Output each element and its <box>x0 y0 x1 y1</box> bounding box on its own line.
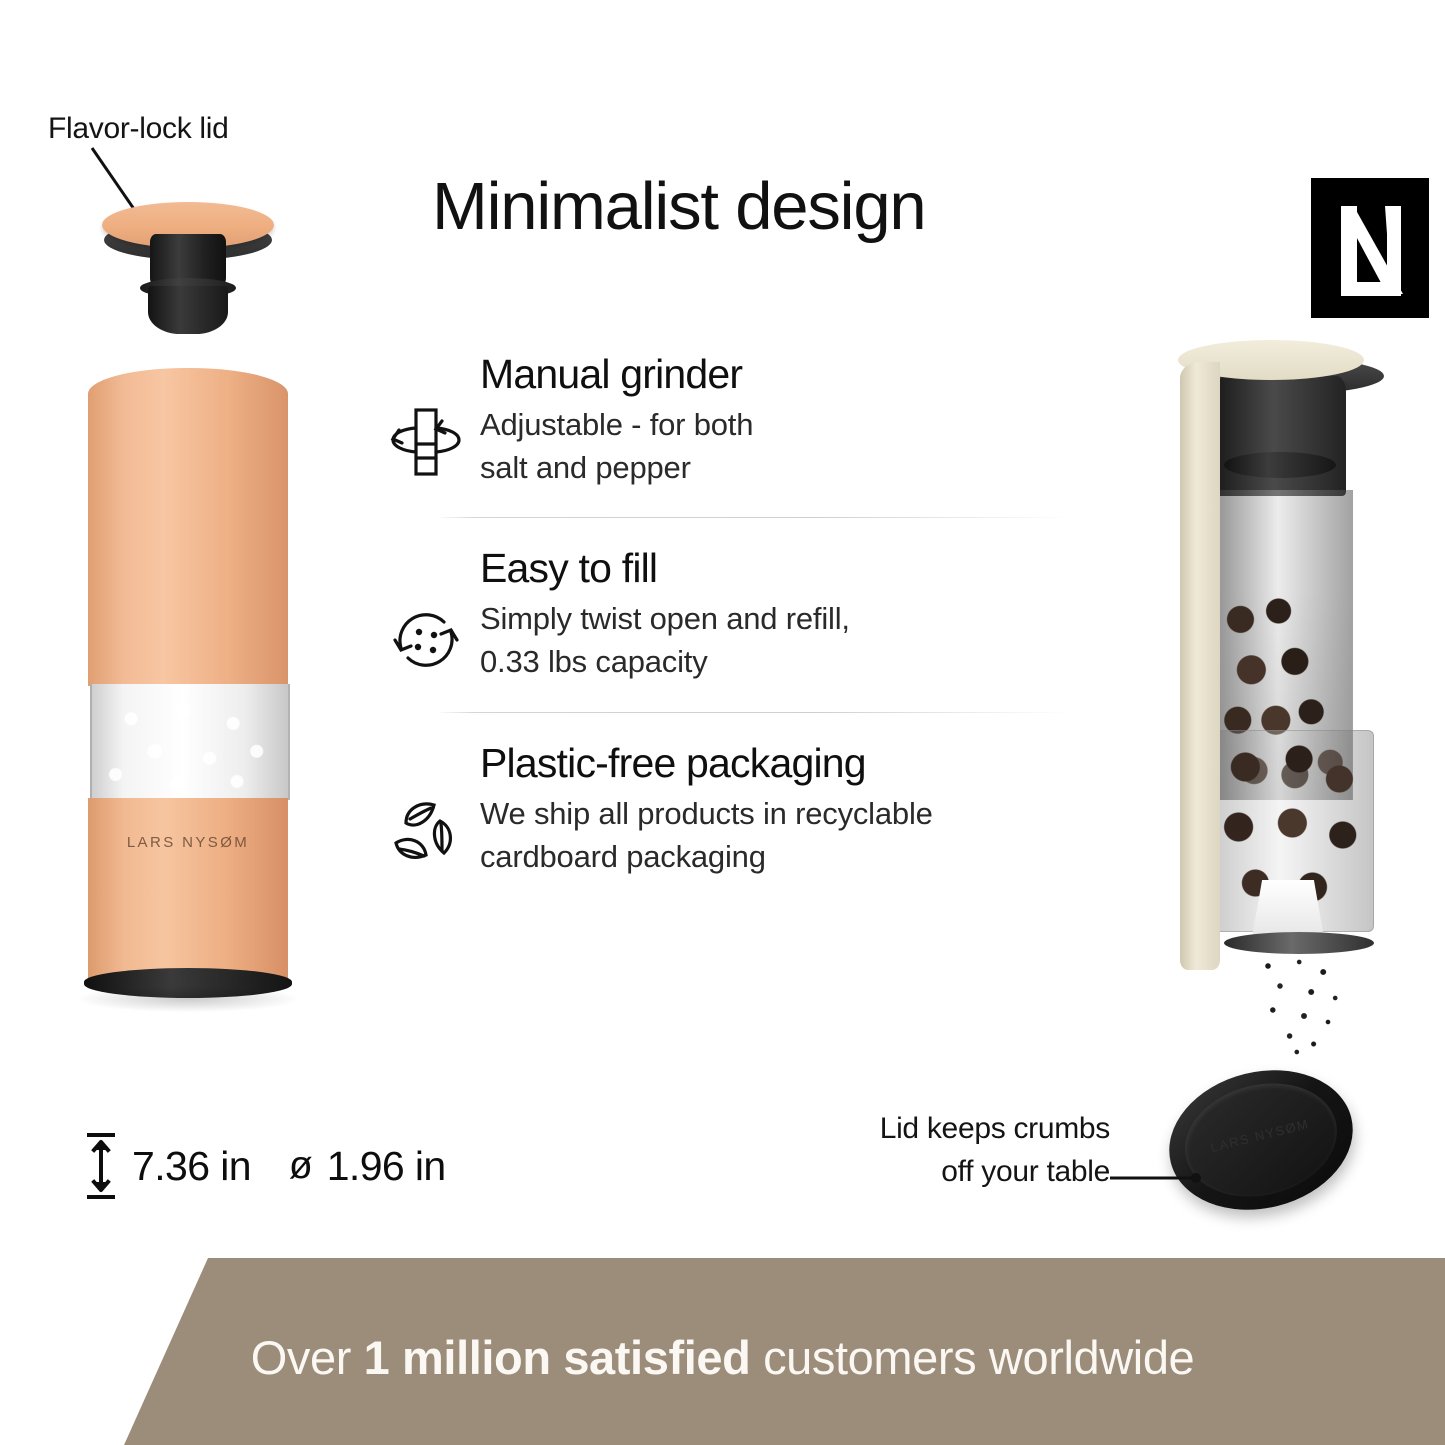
feature-text: Easy to fill Simply twist open and refil… <box>480 546 1072 683</box>
right-product-image <box>1160 340 1440 1060</box>
brand-logo <box>1311 178 1429 318</box>
page-title: Minimalist design <box>432 168 925 245</box>
body-lower <box>88 798 288 978</box>
grinder-body: LARS NYSØM <box>88 368 288 988</box>
feature-title: Easy to fill <box>480 546 1072 592</box>
grinder-rotate-icon <box>372 352 480 484</box>
cutaway-mechanism-ring <box>1224 452 1336 478</box>
feature-list: Manual grinder Adjustable - for both sal… <box>372 352 1072 878</box>
feature-text: Plastic-free packaging We ship all produ… <box>480 741 1072 878</box>
feature-text: Manual grinder Adjustable - for both sal… <box>480 352 1072 489</box>
product-shadow <box>78 986 298 1012</box>
feature-desc-line2: cardboard packaging <box>480 839 766 874</box>
ln-monogram-icon <box>1311 178 1429 318</box>
feature-desc-line1: Adjustable - for both <box>480 407 753 442</box>
banner-suffix: customers worldwide <box>750 1331 1194 1384</box>
feature-desc-line1: Simply twist open and refill, <box>480 601 850 636</box>
callout-crumb-lid-label: Lid keeps crumbs off your table <box>770 1108 1110 1193</box>
callout-crumb-line2: off your table <box>941 1155 1110 1188</box>
cutaway-shell <box>1180 362 1220 970</box>
feature-desc-line1: We ship all products in recyclable <box>480 796 933 831</box>
body-brand-imprint: LARS NYSØM <box>88 834 288 851</box>
feature-description: Simply twist open and refill, 0.33 lbs c… <box>480 598 1072 684</box>
ceramic-burr <box>1252 880 1324 938</box>
feature-item: Easy to fill Simply twist open and refil… <box>372 546 1072 683</box>
feature-divider <box>436 517 1072 518</box>
refill-cycle-icon <box>372 546 480 678</box>
dimension-diameter: ø 1.96 in <box>289 1143 446 1190</box>
dimension-height: 7.36 in <box>84 1130 251 1202</box>
grinder-plate <box>1224 932 1374 954</box>
infographic-canvas: Minimalist design Flavor-lock lid <box>0 0 1445 1445</box>
dimensions-row: 7.36 in ø 1.96 in <box>84 1130 446 1202</box>
feature-description: We ship all products in recyclable cardb… <box>480 793 1072 879</box>
feature-title: Manual grinder <box>480 352 1072 398</box>
cutaway-mechanism-top <box>1216 376 1346 496</box>
height-value: 7.36 in <box>132 1143 251 1190</box>
body-upper <box>88 368 288 686</box>
feature-description: Adjustable - for both salt and pepper <box>480 404 1072 490</box>
salt-view-window <box>90 684 290 800</box>
eco-leaves-icon <box>372 741 480 873</box>
diameter-value: 1.96 in <box>327 1143 446 1190</box>
feature-item: Plastic-free packaging We ship all produ… <box>372 741 1072 878</box>
feature-title: Plastic-free packaging <box>480 741 1072 787</box>
ground-pepper-dust <box>1244 956 1364 1056</box>
callout-leader-line-bottom <box>1108 1168 1204 1188</box>
feature-divider <box>436 712 1072 713</box>
diameter-symbol-icon: ø <box>289 1144 313 1188</box>
lid-plug <box>148 286 228 334</box>
banner-prefix: Over <box>251 1331 364 1384</box>
left-product-image: LARS NYSØM <box>60 190 320 1000</box>
feature-desc-line2: 0.33 lbs capacity <box>480 644 708 679</box>
detached-lid-assembly <box>82 190 298 340</box>
feature-desc-line2: salt and pepper <box>480 450 691 485</box>
callout-crumb-line1: Lid keeps crumbs <box>880 1112 1110 1145</box>
banner-highlight: 1 million satisfied <box>364 1331 751 1384</box>
height-arrow-icon <box>84 1130 118 1202</box>
silicone-crumb-lid: LARS NYSØM <box>1154 1052 1367 1229</box>
feature-item: Manual grinder Adjustable - for both sal… <box>372 352 1072 489</box>
banner-text: Over 1 million satisfied customers world… <box>0 1330 1445 1385</box>
